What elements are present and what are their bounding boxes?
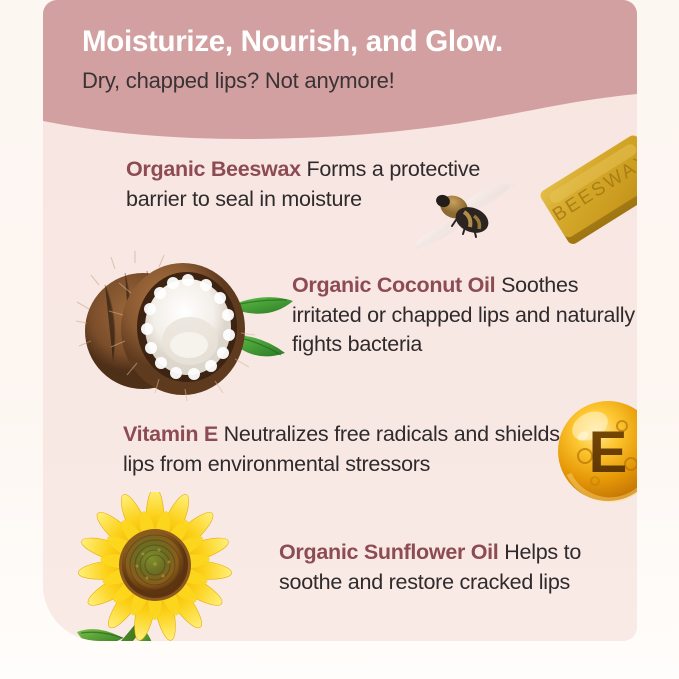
sunflower-image xyxy=(51,492,263,641)
ingredient-name-sunflower: Organic Sunflower Oil xyxy=(279,540,498,564)
ingredient-name-beeswax: Organic Beeswax xyxy=(126,157,301,181)
bee-image xyxy=(414,176,518,254)
ingredient-text-vitamin-e: Vitamin E Neutralizes free radicals and … xyxy=(123,420,563,479)
ingredient-text-sunflower: Organic Sunflower Oil Helps to soothe an… xyxy=(279,538,637,597)
ingredient-name-coconut: Organic Coconut Oil xyxy=(292,273,495,297)
ingredient-name-vitamin-e: Vitamin E xyxy=(123,422,218,446)
coconut-image xyxy=(75,249,303,401)
infographic-stage: Moisturize, Nourish, and Glow. Dry, chap… xyxy=(0,0,679,679)
page-subtitle: Dry, chapped lips? Not anymore! xyxy=(82,58,637,93)
header-text-group: Moisturize, Nourish, and Glow. Dry, chap… xyxy=(43,0,637,94)
vitamin-e-capsule-image: E xyxy=(553,396,637,506)
beeswax-bar-image: BEESWAX xyxy=(532,117,637,259)
ingredient-card: Moisturize, Nourish, and Glow. Dry, chap… xyxy=(43,0,637,641)
vitamin-e-letter: E xyxy=(589,420,628,485)
ingredient-text-coconut: Organic Coconut Oil Soothes irritated or… xyxy=(292,271,637,360)
page-title: Moisturize, Nourish, and Glow. xyxy=(82,0,637,58)
